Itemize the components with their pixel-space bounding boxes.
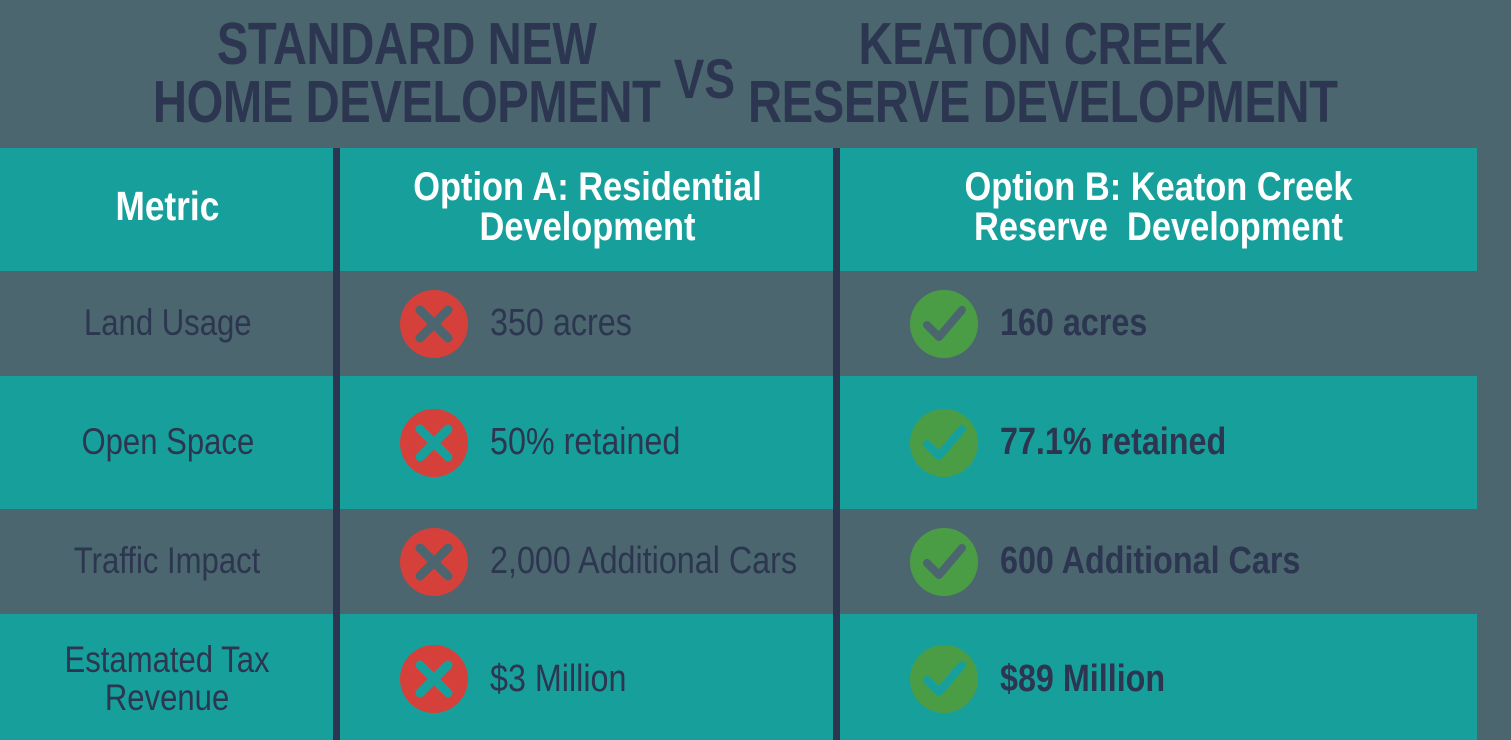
- cross-icon: [398, 288, 470, 360]
- option-a-value: 350 acres: [490, 302, 632, 345]
- header-label-metric: Metric: [116, 186, 220, 227]
- row-cell-option-b: $89 Million: [840, 618, 1477, 740]
- cross-icon: [398, 526, 470, 598]
- check-icon: [908, 288, 980, 360]
- header-cell-metric: Metric: [0, 148, 335, 265]
- table-row: Traffic Impact 2,000 Additional Cars 600…: [0, 509, 1511, 614]
- check-icon: [908, 643, 980, 715]
- cross-icon: [398, 407, 470, 479]
- header-label-option-b: Option B: Keaton Creek Reserve Developme…: [885, 167, 1433, 247]
- check-icon: [908, 526, 980, 598]
- table-row: Land Usage 350 acres 160 acres: [0, 271, 1511, 376]
- table-row: Open Space 50% retained 77.1% retained: [0, 380, 1511, 505]
- cross-icon: [398, 643, 470, 715]
- header-label-option-a: Option A: Residential Development: [375, 167, 801, 247]
- table-header-row: Metric Option A: Residential Development…: [0, 148, 1511, 265]
- row-cell-metric: Traffic Impact: [0, 509, 335, 614]
- option-b-value: 77.1% retained: [1000, 421, 1226, 464]
- option-b-value: 160 acres: [1000, 302, 1147, 345]
- title-right-line2: RESERVE DEVELOPMENT: [748, 74, 1338, 132]
- row-cell-metric: Open Space: [0, 380, 335, 505]
- option-a-value: $3 Million: [490, 658, 626, 701]
- row-cell-option-a: $3 Million: [340, 618, 835, 740]
- metric-label: Traffic Impact: [74, 542, 261, 580]
- column-divider-options: [833, 148, 840, 740]
- title-right: KEATON CREEK RESERVE DEVELOPMENT: [748, 16, 1338, 132]
- option-b-value: 600 Additional Cars: [1000, 540, 1300, 583]
- option-a-value: 2,000 Additional Cars: [490, 540, 797, 583]
- row-cell-option-b: 77.1% retained: [840, 380, 1477, 505]
- title-left-line1: STANDARD NEW: [153, 16, 661, 74]
- metric-label: Open Space: [81, 423, 254, 461]
- column-divider-metric: [333, 148, 340, 740]
- row-cell-option-a: 50% retained: [340, 380, 835, 505]
- row-cell-option-b: 600 Additional Cars: [840, 509, 1477, 614]
- table-row: Estamated Tax Revenue $3 Million $89 Mil…: [0, 618, 1511, 740]
- row-cell-option-a: 2,000 Additional Cars: [340, 509, 835, 614]
- row-cell-metric: Estamated Tax Revenue: [0, 618, 335, 740]
- row-cell-option-a: 350 acres: [340, 271, 835, 376]
- title-left: STANDARD NEW HOME DEVELOPMENT: [153, 16, 661, 132]
- vs-separator: VS: [674, 46, 735, 111]
- title-band: STANDARD NEW HOME DEVELOPMENT VS KEATON …: [0, 0, 1511, 148]
- comparison-table: Metric Option A: Residential Development…: [0, 148, 1511, 740]
- metric-label: Estamated Tax Revenue: [65, 641, 270, 718]
- metric-label: Land Usage: [84, 304, 252, 342]
- check-icon: [908, 407, 980, 479]
- row-cell-option-b: 160 acres: [840, 271, 1477, 376]
- title-left-line2: HOME DEVELOPMENT: [153, 74, 661, 132]
- header-cell-option-b: Option B: Keaton Creek Reserve Developme…: [840, 148, 1477, 265]
- title-right-line1: KEATON CREEK: [748, 16, 1338, 74]
- option-b-value: $89 Million: [1000, 658, 1165, 701]
- row-cell-metric: Land Usage: [0, 271, 335, 376]
- header-cell-option-a: Option A: Residential Development: [340, 148, 835, 265]
- option-a-value: 50% retained: [490, 421, 680, 464]
